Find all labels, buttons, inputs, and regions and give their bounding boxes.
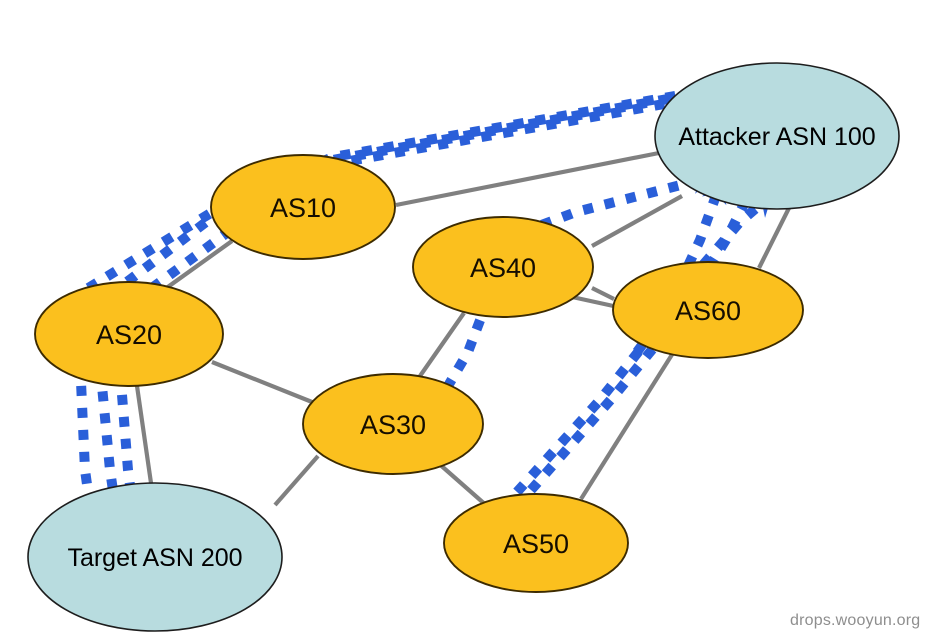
node-as30[interactable]: AS30 (303, 374, 483, 474)
diagram-canvas: Attacker ASN 100Target ASN 200AS10AS20AS… (0, 0, 934, 637)
as-topology-diagram: Attacker ASN 100Target ASN 200AS10AS20AS… (0, 0, 934, 637)
watermark-layer: drops.wooyun.org (790, 612, 920, 629)
node-as60[interactable]: AS60 (613, 262, 803, 358)
node-label-as60: AS60 (675, 296, 741, 326)
node-label-as30: AS30 (360, 410, 426, 440)
node-label-as40: AS40 (470, 253, 536, 283)
topology-edge (165, 241, 232, 289)
node-as50[interactable]: AS50 (444, 494, 628, 592)
node-target[interactable]: Target ASN 200 (28, 483, 282, 631)
topology-edge (275, 456, 318, 505)
node-label-as10: AS10 (270, 193, 336, 223)
topology-edge (212, 362, 312, 402)
node-attacker[interactable]: Attacker ASN 100 (655, 63, 899, 209)
node-layer: Attacker ASN 100Target ASN 200AS10AS20AS… (28, 63, 899, 631)
topology-edge (437, 462, 487, 506)
node-label-as20: AS20 (96, 320, 162, 350)
node-as40[interactable]: AS40 (413, 217, 593, 317)
node-label-as50: AS50 (503, 529, 569, 559)
node-label-attacker: Attacker ASN 100 (678, 123, 875, 151)
topology-edge (396, 152, 664, 205)
watermark-label: drops.wooyun.org (790, 612, 920, 629)
topology-edge (581, 353, 673, 499)
node-as20[interactable]: AS20 (35, 282, 223, 386)
node-label-target: Target ASN 200 (67, 544, 242, 572)
topology-edge (759, 208, 789, 268)
node-as10[interactable]: AS10 (211, 155, 395, 259)
topology-edge (592, 288, 614, 299)
topology-edge (137, 386, 151, 483)
